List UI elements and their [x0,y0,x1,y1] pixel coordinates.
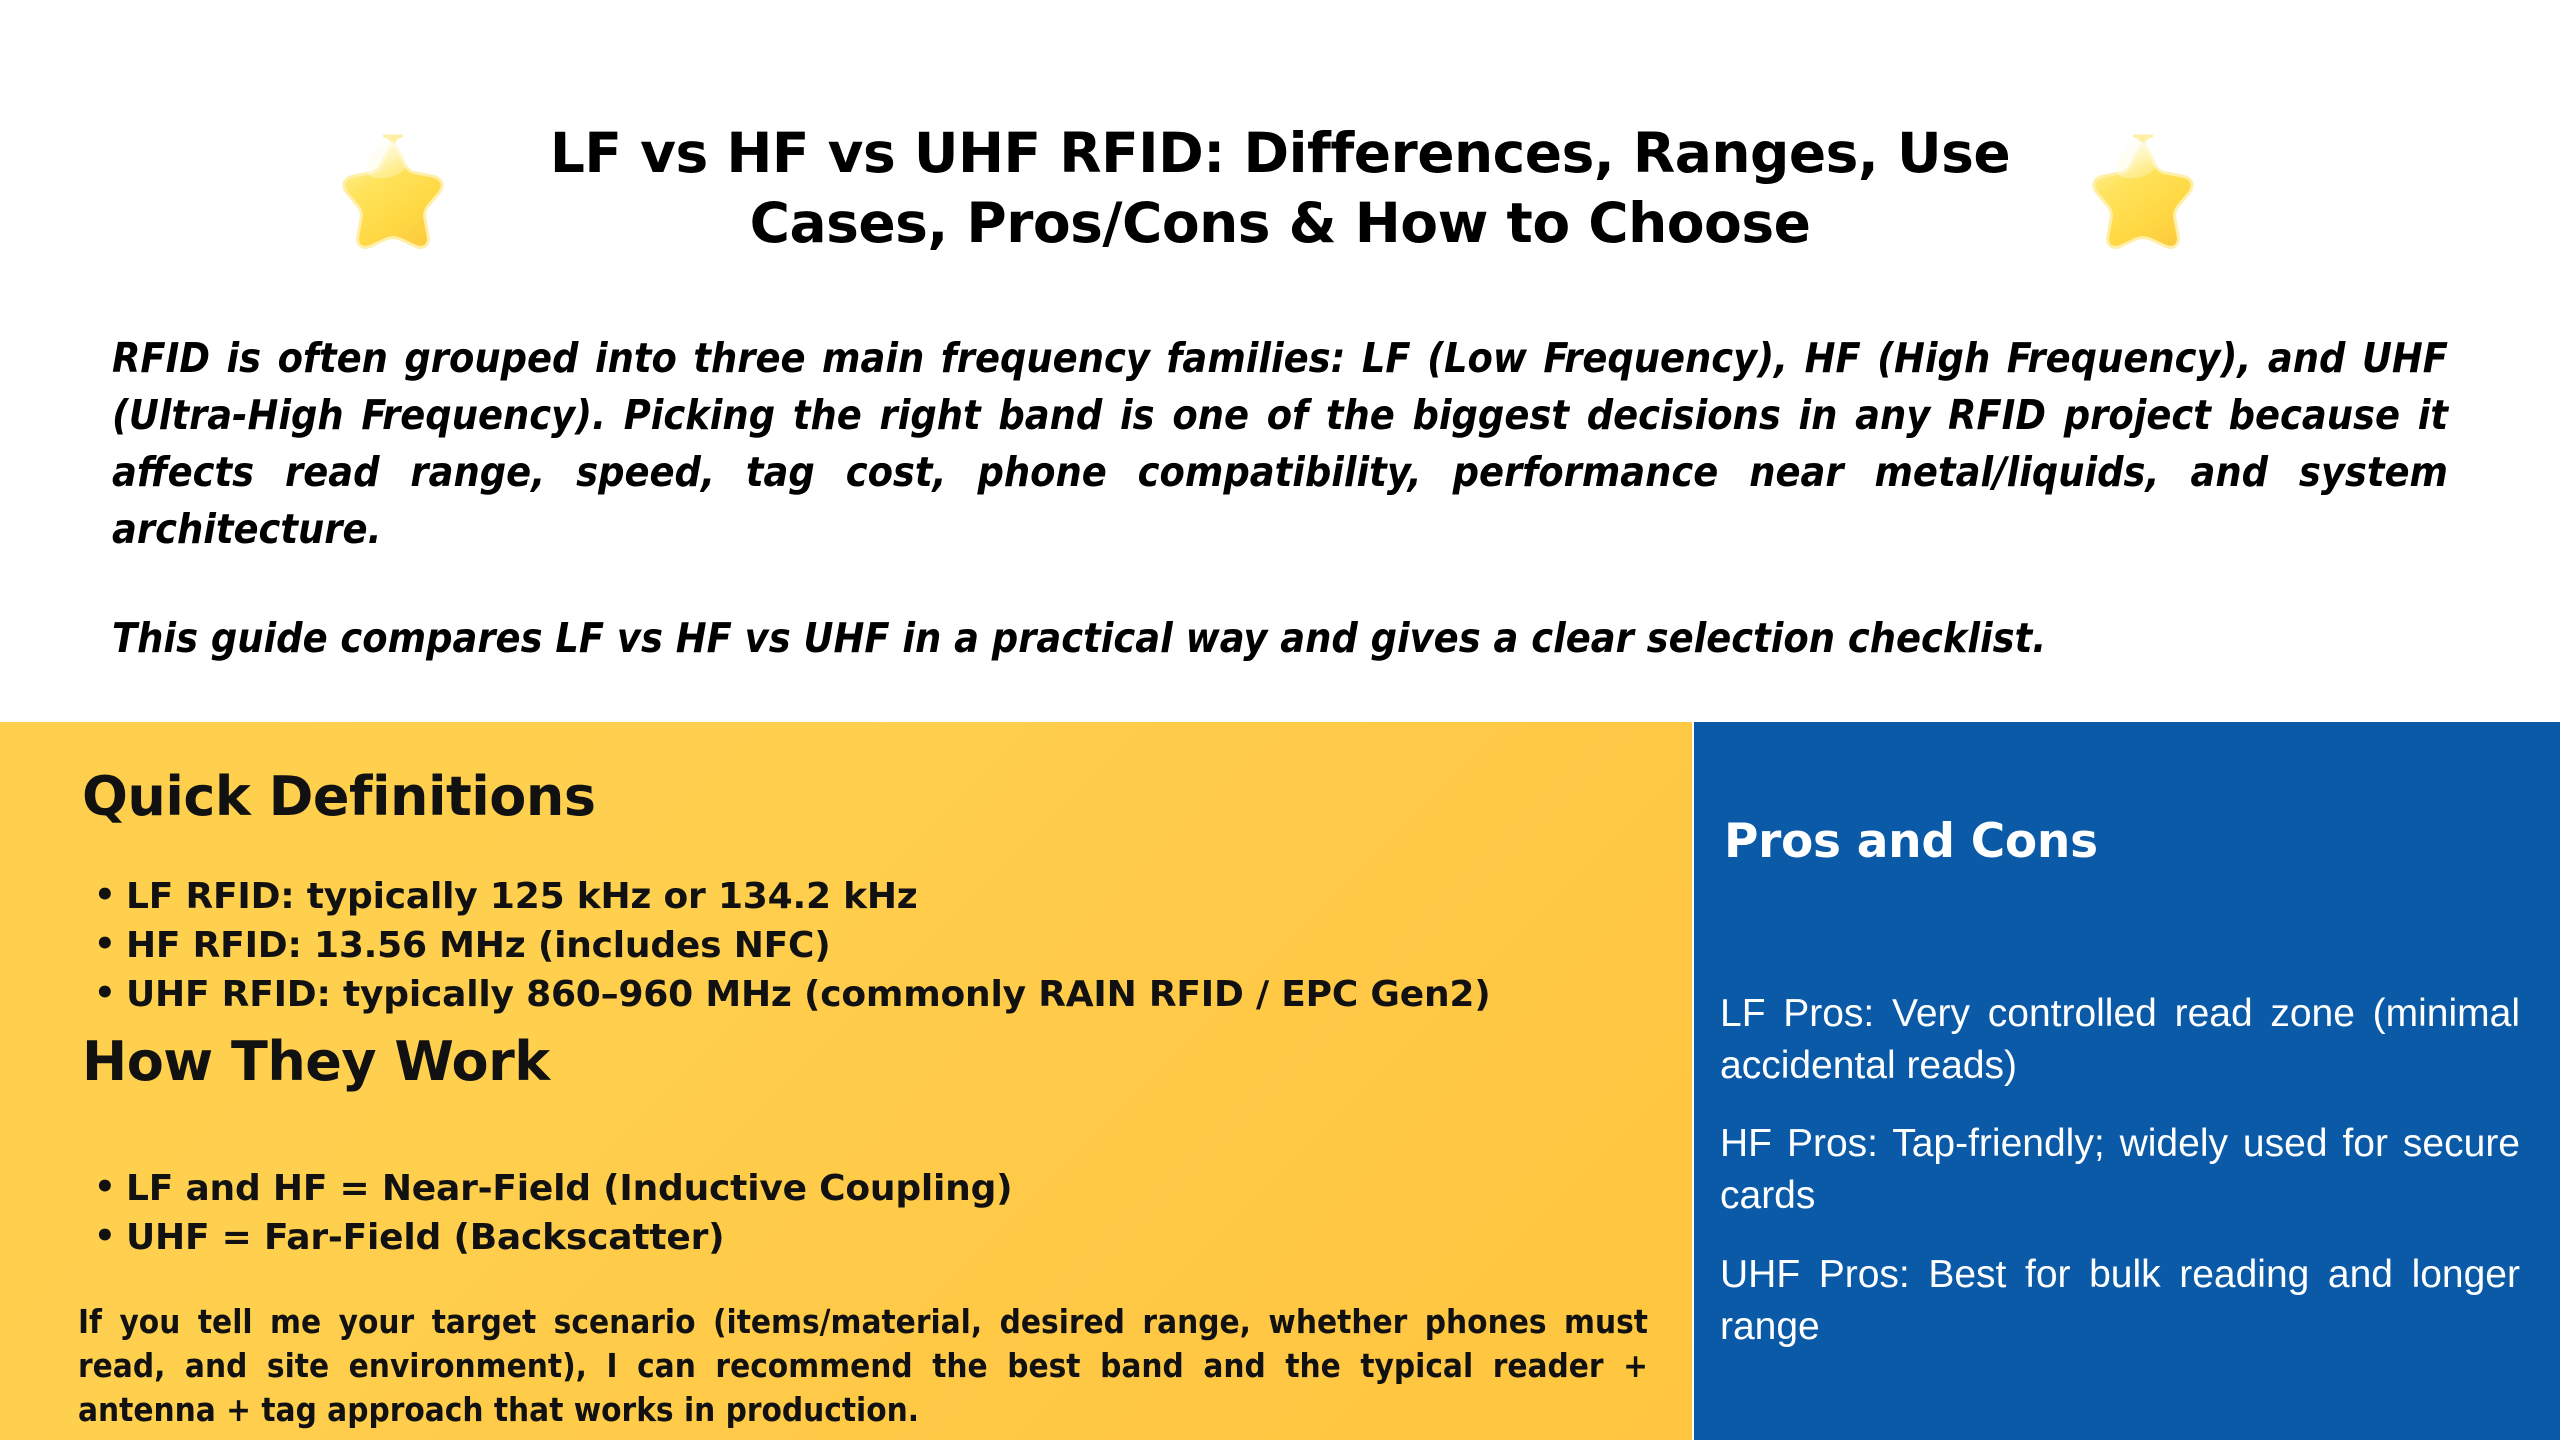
pros-item-text: HF Pros: Tap-friendly; widely used for s… [1720,1118,2520,1222]
pros-item-lf: LF Pros: Very controlled read zone (mini… [1720,988,2520,1092]
star-icon-left [318,130,448,254]
intro-text-block: RFID is often grouped into three main fr… [112,330,2448,667]
header-section: LF vs HF vs UHF RFID: Differences, Range… [0,0,2560,722]
paragraph-spacer [112,558,2448,610]
pros-item-text: UHF Pros: Best for bulk reading and long… [1720,1249,2520,1353]
list-item: HF RFID: 13.56 MHz (includes NFC) [86,921,1491,970]
star-icon-right [2068,130,2198,254]
intro-paragraph-1: RFID is often grouped into three main fr… [112,330,2448,558]
pros-item-uhf: UHF Pros: Best for bulk reading and long… [1720,1249,2520,1353]
title-divider: _________________________________ [0,285,2560,295]
pros-and-cons-heading: Pros and Cons [1724,818,2098,865]
closing-note: If you tell me your target scenario (ite… [78,1300,1648,1432]
how-they-work-list: LF and HF = Near-Field (Inductive Coupli… [86,1164,1012,1262]
pros-item-text: LF Pros: Very controlled read zone (mini… [1720,988,2520,1092]
list-item: UHF RFID: typically 860–960 MHz (commonl… [86,970,1491,1019]
list-item: UHF = Far-Field (Backscatter) [86,1213,1012,1262]
definitions-list: LF RFID: typically 125 kHz or 134.2 kHz … [86,872,1491,1019]
quick-definitions-heading: Quick Definitions [82,770,596,824]
pros-and-cons-panel: Pros and Cons LF Pros: Very controlled r… [1694,722,2560,1440]
intro-paragraph-2: This guide compares LF vs HF vs UHF in a… [112,610,2448,667]
closing-note-text: If you tell me your target scenario (ite… [78,1300,1648,1432]
list-item: LF RFID: typically 125 kHz or 134.2 kHz [86,872,1491,921]
list-item: LF and HF = Near-Field (Inductive Coupli… [86,1164,1012,1213]
slide-canvas: LF vs HF vs UHF RFID: Differences, Range… [0,0,2560,1440]
title-row: LF vs HF vs UHF RFID: Differences, Range… [0,118,2560,259]
how-they-work-heading: How They Work [82,1035,550,1089]
page-title: LF vs HF vs UHF RFID: Differences, Range… [500,118,2060,259]
pros-item-hf: HF Pros: Tap-friendly; widely used for s… [1720,1118,2520,1222]
